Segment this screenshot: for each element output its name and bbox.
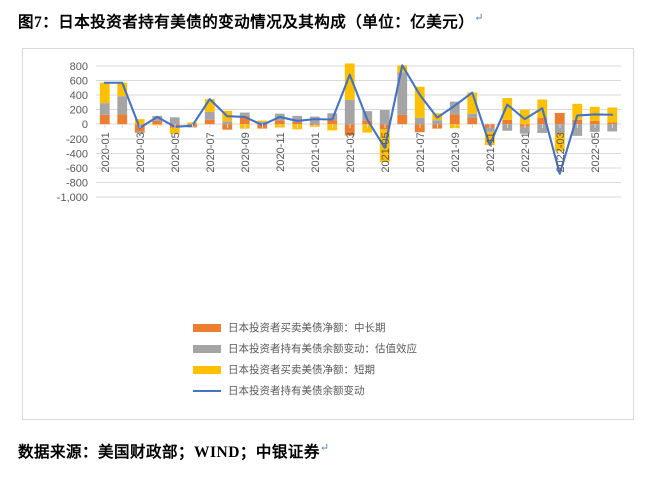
y-axis-tick-label: 200 [70, 105, 88, 117]
x-axis-tick-label: 2020-09 [240, 132, 252, 172]
legend-label-total: 日本投资者持有美债余额变动 [228, 383, 365, 398]
legend-label-short: 日本投资者买卖美债净额：短期 [228, 362, 375, 377]
bar-segment [415, 87, 425, 118]
x-axis-tick-label: 2022-05 [590, 132, 602, 172]
legend-swatch-medium-long [193, 324, 221, 332]
bar-segment [397, 115, 407, 124]
bar-segment [467, 118, 477, 124]
legend-label-medium-long: 日本投资者买卖美债净额：中长期 [228, 320, 386, 335]
bar-segment [502, 120, 512, 124]
x-axis-tick-label: 2021-07 [415, 132, 427, 172]
bar-segment [117, 114, 127, 124]
bar-segment [345, 100, 355, 124]
source-note-text: 数据来源：美国财政部；WIND；中银证券 [18, 444, 320, 461]
bar-segment [117, 96, 127, 114]
x-axis-tick-label: 2020-01 [100, 132, 112, 172]
bar-segment [257, 121, 267, 122]
paragraph-mark-icon: ↵ [474, 12, 484, 24]
bar-segment [327, 120, 337, 124]
figure-title-text: 图7：日本投资者持有美债的变动情况及其构成（单位：亿美元） [18, 14, 474, 31]
legend-item-total[interactable]: 日本投资者持有美债余额变动 [193, 380, 613, 401]
bar-segment [432, 120, 442, 124]
bar-segment [380, 110, 390, 124]
y-axis-tick-label: -1,000 [57, 192, 88, 204]
x-axis-tick-label: 2021-05 [380, 132, 392, 172]
bar-segment [415, 118, 425, 125]
bar-segment [100, 115, 110, 124]
x-axis-tick-label: 2021-11 [485, 132, 497, 172]
bar-segment [590, 121, 600, 124]
bar-segment [555, 113, 565, 124]
x-axis-tick-label: 2020-03 [135, 132, 147, 172]
y-axis-tick-label: 600 [70, 76, 88, 88]
legend-item-valuation[interactable]: 日本投资者持有美债余额变动：估值效应 [193, 338, 613, 359]
bar-segment [152, 121, 162, 124]
bar-segment [240, 113, 250, 116]
bar-segment [205, 120, 215, 124]
bar-segment [292, 122, 302, 124]
bar-segment [100, 103, 110, 115]
x-axis-tick-label: 2021-09 [450, 132, 462, 172]
chart-legend: 日本投资者买卖美债净额：中长期 日本投资者持有美债余额变动：估值效应 日本投资者… [193, 317, 613, 401]
bar-segment [275, 121, 285, 125]
bar-segment [205, 112, 215, 120]
y-axis-tick-label: 0 [82, 119, 88, 131]
x-axis-tick-label: 2020-07 [205, 132, 217, 172]
y-axis-tick-label: -200 [66, 134, 88, 146]
bar-segment [100, 83, 110, 103]
x-axis-tick-label: 2020-05 [170, 132, 182, 172]
x-axis-tick-label: 2021-01 [310, 132, 322, 172]
y-axis-tick-label: 800 [70, 61, 88, 73]
x-axis-tick-label: 2022-01 [520, 132, 532, 172]
legend-item-medium-long[interactable]: 日本投资者买卖美债净额：中长期 [193, 317, 613, 338]
x-axis-tick-label: 2022-03 [555, 132, 567, 172]
y-axis-tick-label: -400 [66, 148, 88, 160]
bar-segment [467, 114, 477, 118]
x-axis-tick-label: 2020-11 [275, 132, 287, 172]
bar-segment [222, 121, 232, 124]
y-axis-tick-label: -600 [66, 163, 88, 175]
legend-item-short[interactable]: 日本投资者买卖美债净额：短期 [193, 359, 613, 380]
figure-title: 图7：日本投资者持有美债的变动情况及其构成（单位：亿美元）↵ [18, 10, 484, 32]
paragraph-mark-icon: ↵ [320, 442, 330, 454]
chart-container: 8006004002000-200-400-600-800-1,0002020-… [22, 48, 634, 420]
y-axis-tick-label: -800 [66, 177, 88, 189]
bar-segment [607, 122, 617, 124]
x-axis-tick-label: 2021-03 [345, 132, 357, 172]
legend-swatch-total [193, 390, 221, 392]
legend-label-valuation: 日本投资者持有美债余额变动：估值效应 [228, 341, 417, 356]
legend-swatch-valuation [193, 345, 221, 353]
y-axis-tick-label: 400 [70, 90, 88, 102]
bar-segment [450, 114, 460, 124]
legend-swatch-short [193, 366, 221, 374]
source-note: 数据来源：美国财政部；WIND；中银证券↵ [18, 440, 330, 462]
bar-segment [170, 117, 180, 124]
bar-segment [502, 98, 512, 120]
